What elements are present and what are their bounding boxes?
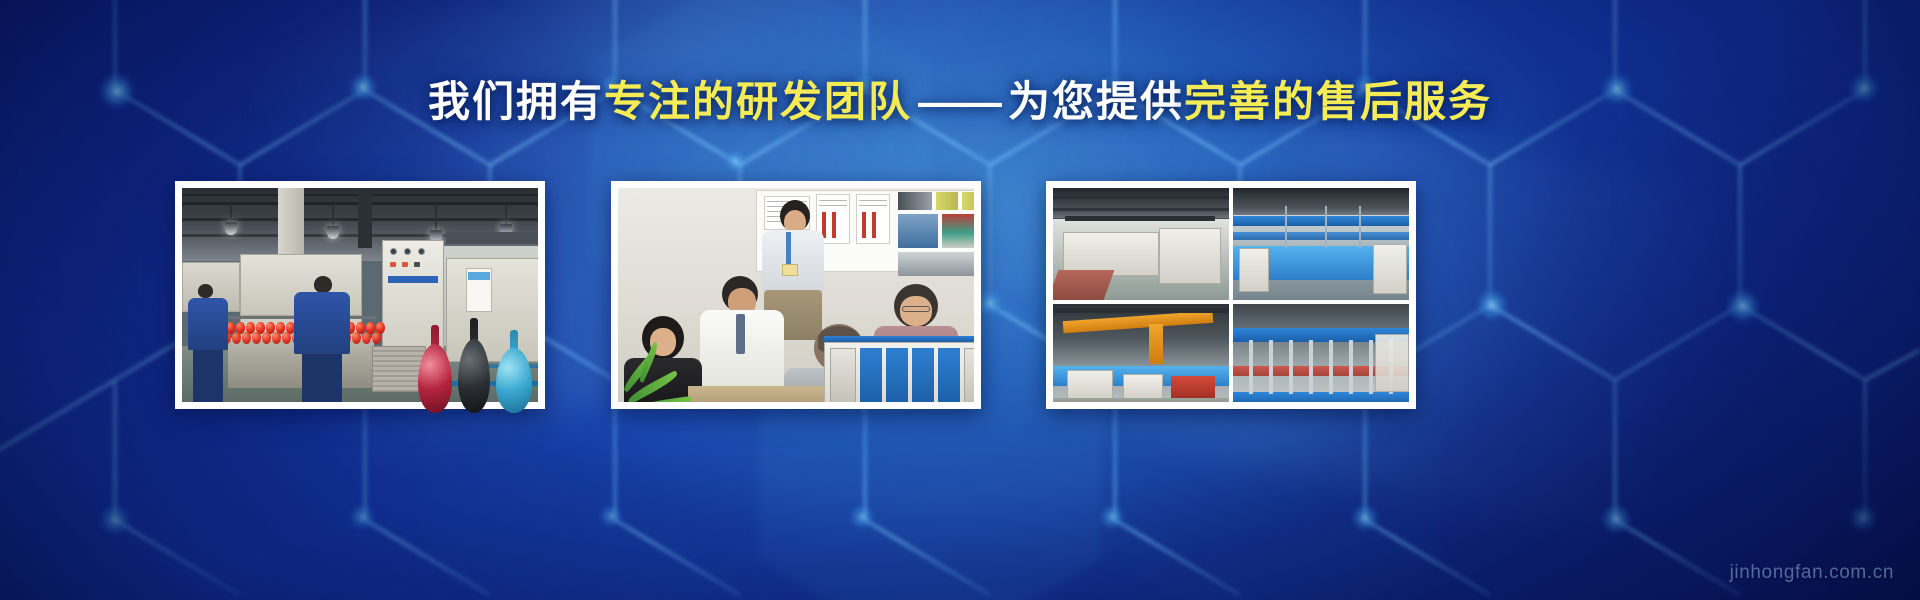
collage-divider-horizontal: [1053, 300, 1409, 304]
indicator-light-icon: [390, 262, 396, 267]
product-vase-black: [458, 318, 490, 413]
equipment-collage-photo-card[interactable]: [1046, 181, 1416, 409]
plating-rack: [1289, 340, 1293, 394]
poster-accent: [872, 212, 876, 238]
crane-post: [1149, 324, 1163, 364]
ceiling-lamp-icon: [225, 222, 237, 235]
blue-pipe: [1233, 216, 1409, 226]
oven-top-rail: [446, 232, 538, 244]
gauge-icon: [418, 248, 425, 255]
poster-accent: [832, 212, 836, 238]
product-vase-blue: [496, 330, 532, 413]
lanyard: [786, 232, 791, 266]
overhead-rail: [1065, 216, 1215, 221]
control-unit: [1159, 228, 1221, 284]
worker-right: [294, 276, 352, 402]
collage-cell-top-left: [1053, 188, 1229, 300]
plating-rack: [1249, 340, 1253, 394]
photo-swatch: [936, 192, 958, 210]
photo-swatch: [898, 252, 974, 276]
photo-swatch: [898, 214, 938, 248]
id-badge: [782, 264, 798, 276]
plating-rack: [1349, 340, 1353, 394]
plating-rack: [1309, 340, 1313, 394]
cabinet-label: [388, 276, 438, 283]
collage-cell-top-right: [1233, 188, 1409, 300]
lamp-stem: [230, 204, 232, 222]
page-title: 我们拥有专注的研发团队——为您提供完善的售后服务: [0, 78, 1920, 125]
plating-rack: [1269, 340, 1273, 394]
lamp-stem: [435, 204, 437, 230]
gauge-icon: [404, 248, 411, 255]
blue-pipe: [1233, 232, 1409, 240]
rack-rail: [1233, 392, 1409, 402]
machine-unit: [1067, 370, 1113, 400]
lamp-stem: [505, 204, 507, 224]
collage-cell-bottom-right: [1233, 304, 1409, 402]
equipment-unit: [1373, 244, 1407, 294]
support-post: [358, 188, 372, 248]
hall-roof: [1233, 188, 1409, 217]
photo-swatch: [898, 192, 932, 210]
collage-divider-vertical: [1229, 188, 1233, 402]
equipment-unit: [912, 348, 934, 402]
headline-segment-2: 专注的研发团队: [604, 78, 912, 125]
ceiling-lamp-icon: [327, 226, 339, 239]
headline-segment-dash: ——: [912, 78, 1008, 125]
person-seated-center: [700, 276, 784, 402]
headline-segment-5: 完善的售后服务: [1184, 78, 1492, 125]
equipment-unit: [860, 348, 882, 402]
indicator-light-icon: [402, 262, 408, 267]
oven-notice-header: [468, 272, 490, 280]
poster-accent: [862, 212, 866, 238]
indicator-light-icon: [414, 262, 420, 267]
lamp-stem: [332, 204, 334, 226]
red-trolley: [1171, 376, 1215, 398]
eyeglasses-icon: [902, 306, 930, 312]
headline-segment-1: 我们拥有: [428, 78, 604, 125]
collage-cell-bottom-left: [1053, 304, 1229, 402]
site-watermark: jinhongfan.com.cn: [1730, 562, 1894, 584]
photo-swatch: [962, 192, 974, 210]
machine-unit: [1123, 374, 1163, 400]
gauge-icon: [390, 248, 397, 255]
team-meeting-photo-card[interactable]: [611, 181, 981, 409]
equipment-unit: [886, 348, 908, 402]
worker-left: [188, 284, 232, 402]
team-meeting-photo: [618, 188, 974, 402]
headline-segment-4: 为您提供: [1008, 78, 1184, 125]
equipment-unit: [964, 348, 974, 402]
plating-rack: [1329, 340, 1333, 394]
foliage-plant: [622, 356, 702, 402]
end-cabinet: [1375, 334, 1409, 392]
necktie: [736, 314, 745, 354]
equipment-unit: [938, 348, 960, 402]
floor: [1053, 398, 1229, 402]
photo-swatch: [942, 214, 974, 248]
equipment-unit: [830, 348, 856, 402]
plating-rack: [1369, 340, 1373, 394]
promotional-banner: 我们拥有专注的研发团队——为您提供完善的售后服务: [0, 0, 1920, 600]
product-vase-red: [418, 325, 452, 413]
equipment-unit: [1239, 248, 1269, 292]
equipment-collage-photo: [1053, 188, 1409, 402]
